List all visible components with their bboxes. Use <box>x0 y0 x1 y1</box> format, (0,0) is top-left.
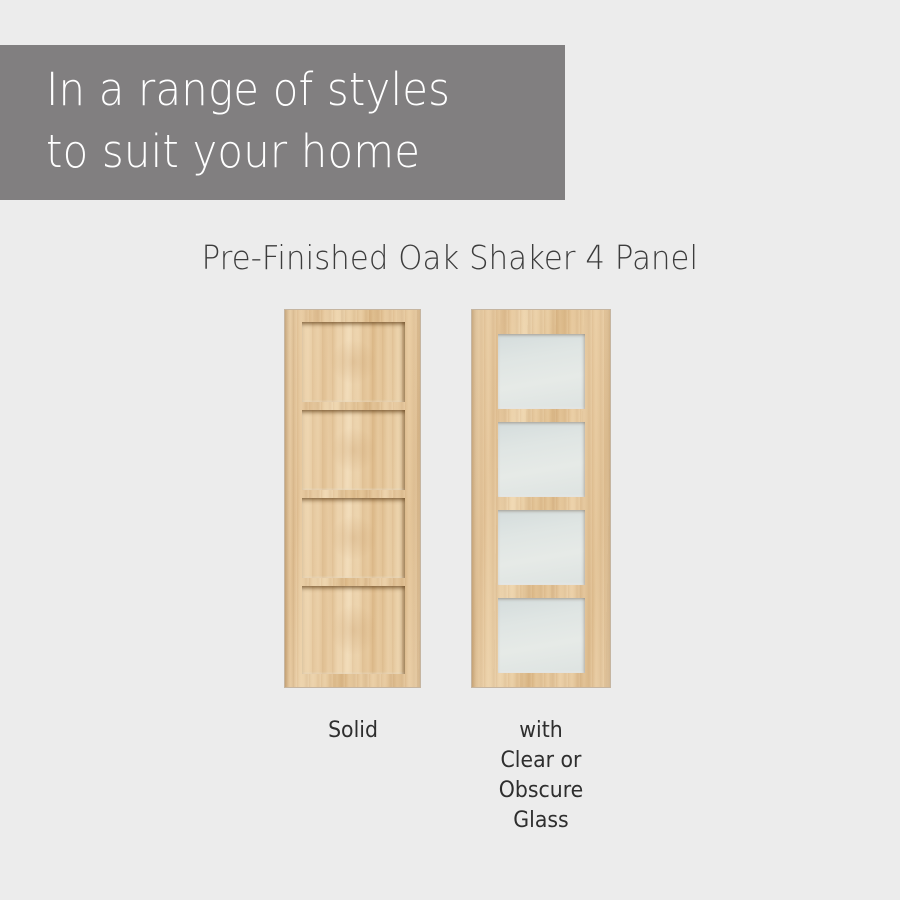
glazed-door-caption: with Clear or Obscure Glass <box>469 716 613 836</box>
door-panel-1 <box>302 322 405 402</box>
door-stile-right <box>413 310 420 687</box>
caption-line: Obscure <box>474 776 608 806</box>
glass-pane-3 <box>498 510 585 585</box>
solid-door-caption: Solid <box>282 716 424 746</box>
caption-line: Glass <box>474 806 608 836</box>
caption-line: Clear or <box>474 746 608 776</box>
solid-door-image[interactable] <box>285 310 420 687</box>
door-stile-left <box>472 310 482 687</box>
glass-pane-4 <box>498 598 585 673</box>
caption-line: with <box>474 716 608 746</box>
caption-line: Solid <box>287 716 419 746</box>
door-gallery: Solid with Clear or Obscure Glass <box>0 0 900 900</box>
glass-pane-1 <box>498 334 585 409</box>
door-stile-left <box>285 310 294 687</box>
door-panel-2 <box>302 410 405 490</box>
door-panel-4 <box>302 586 405 674</box>
door-stile-right <box>601 310 610 687</box>
glass-pane-2 <box>498 422 585 497</box>
door-panel-3 <box>302 498 405 578</box>
glazed-door-image[interactable] <box>472 310 610 687</box>
